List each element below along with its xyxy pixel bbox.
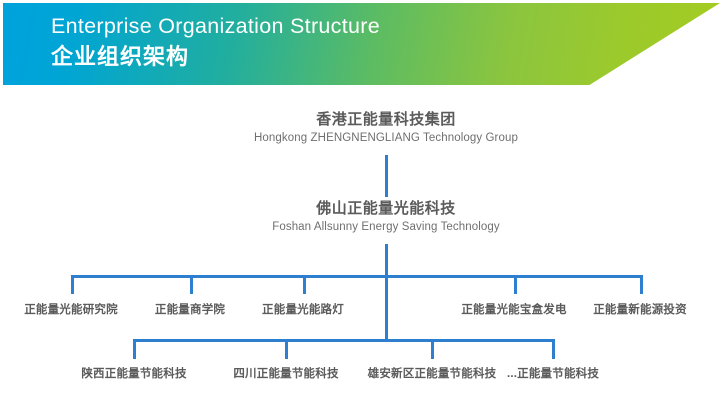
connector-bus-level3 xyxy=(71,275,643,278)
connector-stub-level4-1 xyxy=(133,339,136,359)
connector-bus-level4 xyxy=(133,339,555,342)
connector-stub-level4-4 xyxy=(552,339,555,359)
connector-stub-level3-1 xyxy=(71,275,74,294)
connector-stub-level3-3 xyxy=(303,275,306,294)
header-title-block: Enterprise Organization Structure 企业组织架构 xyxy=(51,12,380,72)
connector-stub-level3-2 xyxy=(190,275,193,294)
organization-chart-page: Enterprise Organization Structure 企业组织架构… xyxy=(0,0,720,401)
header-banner: Enterprise Organization Structure 企业组织架构 xyxy=(3,3,720,85)
org-node-label-en: Foshan Allsunny Energy Saving Technology xyxy=(176,219,596,236)
connector-stub-level3-4 xyxy=(514,275,517,294)
org-node-level1-group[interactable]: 香港正能量科技集团 Hongkong ZHENGNENGLIANG Techno… xyxy=(176,109,596,147)
org-node-label-zh: 佛山正能量光能科技 xyxy=(176,198,596,219)
org-node-level4-xiongan[interactable]: 雄安新区正能量节能科技 xyxy=(368,366,497,382)
org-node-level3-new-energy-investment[interactable]: 正能量新能源投资 xyxy=(593,302,687,318)
connector-stub-level4-2 xyxy=(285,339,288,359)
connector-trunk-level2-to-level3 xyxy=(385,244,388,278)
org-node-level3-business-school[interactable]: 正能量商学院 xyxy=(155,302,225,318)
connector-trunk-level3-to-level4 xyxy=(385,275,388,341)
org-node-level4-shaanxi[interactable]: 陕西正能量节能科技 xyxy=(81,366,186,382)
connector-trunk-level1-to-level2 xyxy=(385,155,388,197)
org-node-level3-street-lamp[interactable]: 正能量光能路灯 xyxy=(262,302,344,318)
org-node-level3-research-institute[interactable]: 正能量光能研究院 xyxy=(24,302,118,318)
page-title-chinese: 企业组织架构 xyxy=(51,42,380,72)
org-node-level4-other[interactable]: ...正能量节能科技 xyxy=(507,366,599,382)
connector-stub-level4-3 xyxy=(431,339,434,359)
org-node-level4-sichuan[interactable]: 四川正能量节能科技 xyxy=(233,366,338,382)
connector-stub-level3-5 xyxy=(640,275,643,294)
page-title-english: Enterprise Organization Structure xyxy=(51,12,380,40)
org-chart-body: 香港正能量科技集团 Hongkong ZHENGNENGLIANG Techno… xyxy=(0,85,720,401)
org-node-level3-power-box[interactable]: 正能量光能宝盒发电 xyxy=(461,302,566,318)
org-node-level2-foshan[interactable]: 佛山正能量光能科技 Foshan Allsunny Energy Saving … xyxy=(176,198,596,236)
org-node-label-en: Hongkong ZHENGNENGLIANG Technology Group xyxy=(176,130,596,147)
org-node-label-zh: 香港正能量科技集团 xyxy=(176,109,596,130)
